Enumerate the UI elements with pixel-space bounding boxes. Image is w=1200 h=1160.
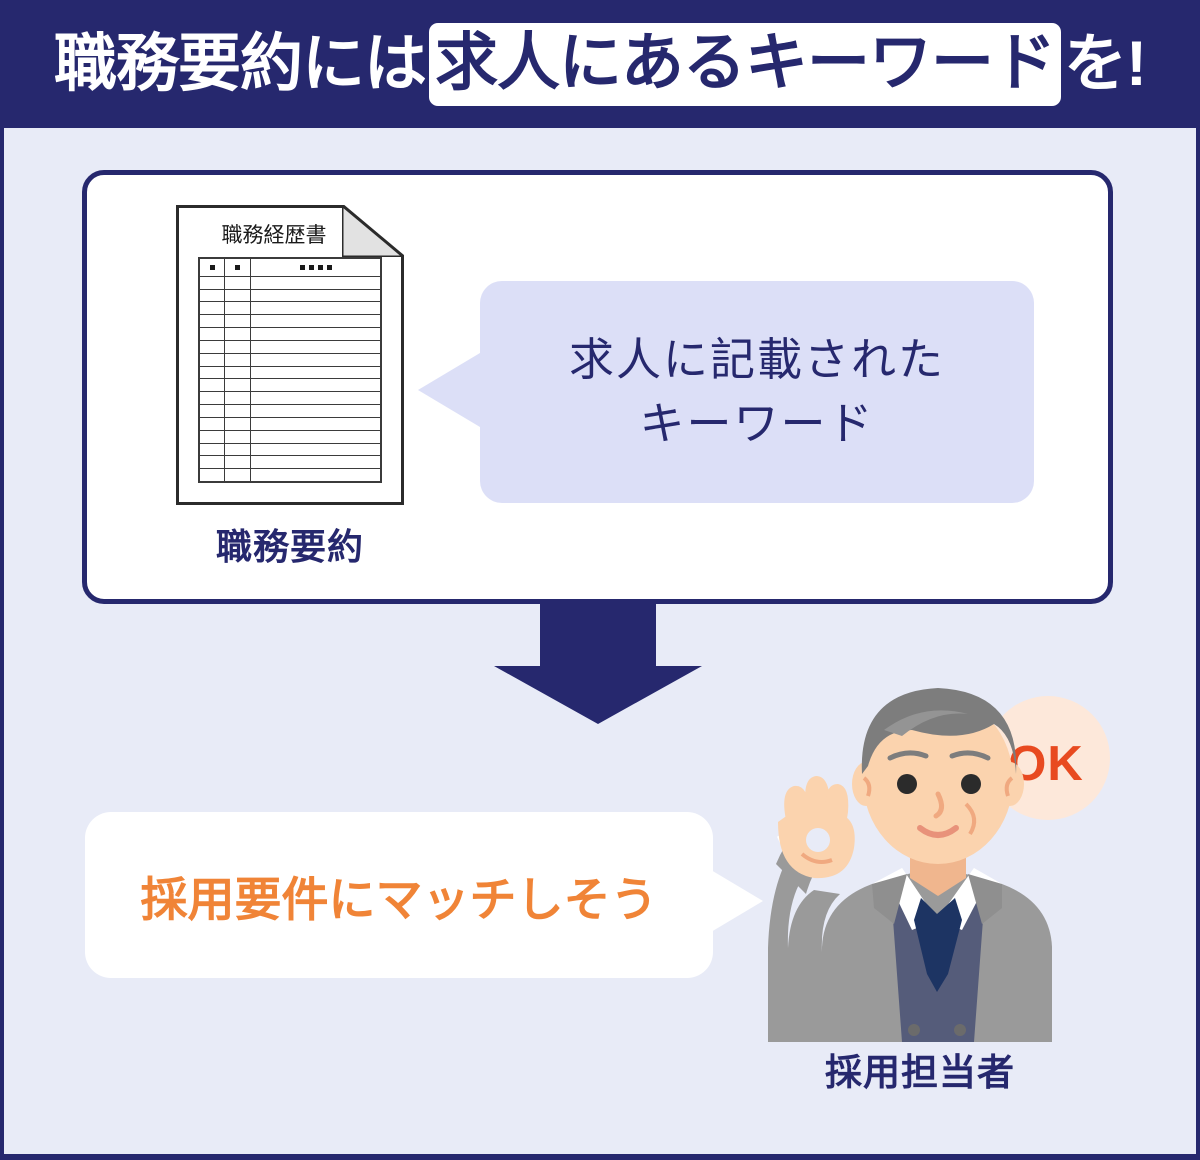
header-banner: 職務要約には 求人にあるキーワード を! [0, 0, 1200, 128]
table-header-cell-2 [225, 259, 251, 276]
table-cell [200, 354, 225, 366]
table-row [200, 367, 380, 380]
table-cell [225, 277, 251, 289]
document-caption: 職務要約 [130, 518, 450, 570]
recruiter-caption: 採用担当者 [740, 1042, 1100, 1096]
table-cell [200, 302, 225, 314]
table-cell [200, 367, 225, 379]
table-row [200, 354, 380, 367]
keyword-callout-line2: キーワード [639, 392, 874, 456]
keyword-callout-bubble: 求人に記載された キーワード [480, 281, 1034, 503]
table-cell [251, 444, 380, 456]
table-header-cell-3 [251, 259, 380, 276]
table-row [200, 418, 380, 431]
table-cell [200, 341, 225, 353]
table-row [200, 302, 380, 315]
table-cell [200, 431, 225, 443]
recruiter-reaction-text: 採用要件にマッチしそう [85, 812, 713, 978]
table-cell [225, 367, 251, 379]
table-cell [200, 444, 225, 456]
flow-arrow-down-icon [494, 604, 702, 724]
keyword-callout-text: 求人に記載された キーワード [480, 281, 1034, 503]
table-cell [225, 315, 251, 327]
square-mark-icon [210, 265, 215, 270]
table-cell [200, 315, 225, 327]
table-cell [225, 418, 251, 430]
table-cell [200, 418, 225, 430]
table-cell [200, 469, 225, 481]
square-mark-icon [318, 265, 323, 270]
table-row [200, 456, 380, 469]
header-title-line: 職務要約には 求人にあるキーワード を! [54, 23, 1146, 106]
table-cell [251, 302, 380, 314]
table-cell [225, 469, 251, 481]
table-cell [251, 379, 380, 391]
recruiter-reaction-bubble: 採用要件にマッチしそう [85, 812, 713, 978]
table-cell [225, 456, 251, 468]
table-cell [251, 469, 380, 481]
table-row [200, 379, 380, 392]
table-cell [251, 341, 380, 353]
resume-document-icon: 職務経歴書 [176, 205, 404, 505]
table-row [200, 341, 380, 354]
table-cell [225, 444, 251, 456]
bubble-tail-right-icon [711, 870, 763, 932]
table-cell [225, 392, 251, 404]
table-cell [251, 315, 380, 327]
table-cell [251, 405, 380, 417]
header-suffix-text: を! [1064, 33, 1146, 96]
table-cell [200, 456, 225, 468]
table-row [200, 328, 380, 341]
table-header-row [200, 259, 380, 277]
keyword-callout-line1: 求人に記載された [569, 328, 945, 392]
table-cell [251, 354, 380, 366]
table-row [200, 469, 380, 481]
table-cell [225, 328, 251, 340]
document-table [198, 257, 382, 483]
table-cell [225, 405, 251, 417]
infographic-page: 職務要約には 求人にあるキーワード を! 職務経歴書 [0, 0, 1200, 1160]
table-cell [251, 431, 380, 443]
square-mark-icon [327, 265, 332, 270]
table-cell [200, 328, 225, 340]
table-cell [200, 405, 225, 417]
table-cell [200, 379, 225, 391]
table-cell [225, 341, 251, 353]
table-cell [200, 392, 225, 404]
table-row [200, 444, 380, 457]
bubble-tail-left-icon [418, 353, 480, 427]
recruiter-illustration [762, 662, 1122, 1042]
table-row [200, 392, 380, 405]
table-cell [251, 392, 380, 404]
table-cell [225, 290, 251, 302]
table-row [200, 315, 380, 328]
header-prefix-text: 職務要約には [54, 33, 426, 96]
table-cell [251, 418, 380, 430]
square-mark-icon [309, 265, 314, 270]
square-mark-icon [300, 265, 305, 270]
table-header-cell-1 [200, 259, 225, 276]
table-row [200, 290, 380, 303]
table-cell [251, 277, 380, 289]
table-cell [225, 379, 251, 391]
table-cell [225, 354, 251, 366]
header-highlight-text: 求人にあるキーワード [429, 23, 1061, 106]
table-cell [251, 290, 380, 302]
square-mark-icon [235, 265, 240, 270]
table-row [200, 277, 380, 290]
document-title: 職務経歴書 [194, 219, 354, 249]
table-row [200, 405, 380, 418]
table-cell [225, 302, 251, 314]
table-row [200, 431, 380, 444]
table-cell [251, 328, 380, 340]
table-cell [200, 277, 225, 289]
table-cell [251, 367, 380, 379]
table-cell [251, 456, 380, 468]
table-cell [200, 290, 225, 302]
table-cell [225, 431, 251, 443]
